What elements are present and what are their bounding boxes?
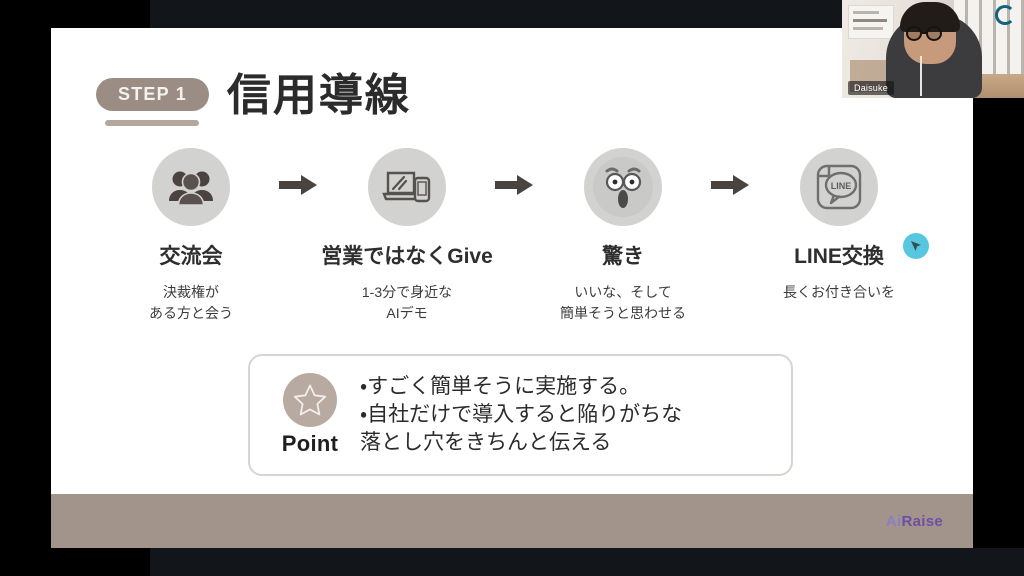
presentation-slide: STEP 1 信用導線 交流会 <box>51 28 973 548</box>
poster-line <box>853 19 887 22</box>
letterbox-left <box>0 0 51 576</box>
arrow-right-icon <box>703 148 759 196</box>
mouse-pointer-icon <box>903 233 929 259</box>
eyeglasses-icon <box>906 26 922 41</box>
flow-step-1: 交流会 決裁権が ある方と会う <box>111 148 271 324</box>
brand-suffix: Raise <box>901 513 943 530</box>
letterbox-bottom <box>150 548 1024 576</box>
point-line: ・自社だけで導入すると陥りがちな 落とし穴をきちんと伝える <box>360 401 682 456</box>
participant-name-label: Daisuke <box>848 81 894 95</box>
webcam-wall-poster <box>848 5 894 39</box>
line-app-icon: LINE <box>800 148 878 226</box>
surprised-face-icon <box>584 148 662 226</box>
point-callout-box: Point ・すごく簡単そうに実施する。 ・自社だけで導入すると陥りがちな 落と… <box>248 354 793 476</box>
arrow-right-icon <box>271 148 327 196</box>
screen-capture: STEP 1 信用導線 交流会 <box>0 0 1024 576</box>
flow-step-desc: いいな、そして 簡単そうと思わせる <box>560 282 686 324</box>
flow-step-desc: 長くお付き合いを <box>783 282 895 303</box>
flow-step-2: 営業ではなくGive 1-3分で身近な AIデモ <box>327 148 487 324</box>
flow-step-label: LINE交換 <box>794 240 884 270</box>
flow-step-4: LINE LINE交換 長くお付き合いを <box>759 148 919 303</box>
flow-step-3: 驚き いいな、そして 簡単そうと思わせる <box>543 148 703 324</box>
step-underline <box>105 120 199 126</box>
point-label: Point <box>282 431 339 457</box>
slide-header: STEP 1 信用導線 <box>96 74 411 130</box>
slide-footer-band: AiRaise <box>51 494 973 548</box>
arrow-right-icon <box>487 148 543 196</box>
flow-step-label: 交流会 <box>160 240 223 270</box>
point-line: ・すごく簡単そうに実施する。 <box>360 373 682 401</box>
laptop-phone-icon <box>368 148 446 226</box>
circle-logo-icon <box>995 5 1015 25</box>
svg-text:LINE: LINE <box>831 181 852 191</box>
letterbox-right <box>973 28 1024 548</box>
step-badge: STEP 1 <box>96 78 209 111</box>
flow-step-label: 驚き <box>602 240 644 270</box>
webcam-overlay[interactable]: Daisuke <box>842 0 1024 98</box>
star-icon <box>283 373 337 427</box>
airaise-logo: AiRaise <box>886 513 943 530</box>
step-badge-group: STEP 1 <box>96 78 209 126</box>
poster-line <box>853 27 883 30</box>
point-badge: Point <box>264 373 356 457</box>
earphone-cord <box>920 56 922 96</box>
poster-line <box>853 11 879 14</box>
flow-step-desc: 決裁権が ある方と会う <box>149 282 233 324</box>
slide-title: 信用導線 <box>227 74 411 118</box>
people-group-icon <box>152 148 230 226</box>
point-text-list: ・すごく簡単そうに実施する。 ・自社だけで導入すると陥りがちな 落とし穴をきちん… <box>360 373 682 456</box>
flow-step-desc: 1-3分で身近な AIデモ <box>362 282 452 324</box>
flow-diagram: 交流会 決裁権が ある方と会う <box>111 148 931 324</box>
flow-step-label: 営業ではなくGive <box>321 240 493 270</box>
eyeglasses-icon <box>926 26 942 41</box>
eyeglasses-bridge <box>922 32 927 34</box>
brand-prefix: Ai <box>886 513 902 530</box>
